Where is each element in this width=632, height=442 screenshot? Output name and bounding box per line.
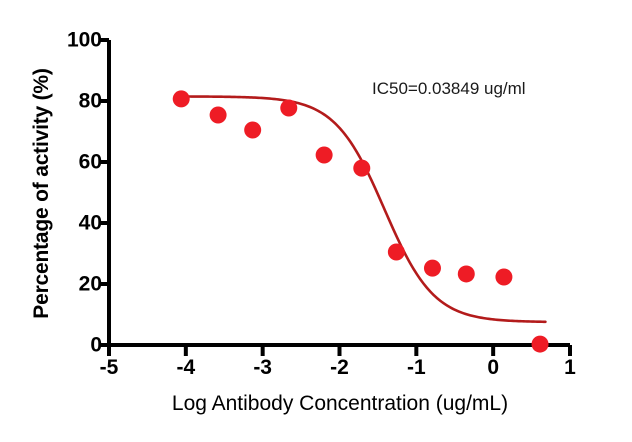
data-point <box>388 243 405 260</box>
data-point <box>353 160 370 177</box>
data-point <box>173 90 190 107</box>
data-point <box>458 265 475 282</box>
data-point <box>244 121 261 138</box>
data-point <box>495 268 512 285</box>
plot-canvas <box>0 0 632 442</box>
axis-lines <box>99 40 570 356</box>
data-point <box>424 260 441 277</box>
chart-figure: Percentage of activity (%) 020406080100 … <box>0 0 632 442</box>
data-point-group <box>173 90 549 352</box>
fit-curve <box>178 96 545 321</box>
data-point <box>532 336 549 353</box>
data-point <box>210 107 227 124</box>
data-point <box>280 100 297 117</box>
data-point <box>316 146 333 163</box>
